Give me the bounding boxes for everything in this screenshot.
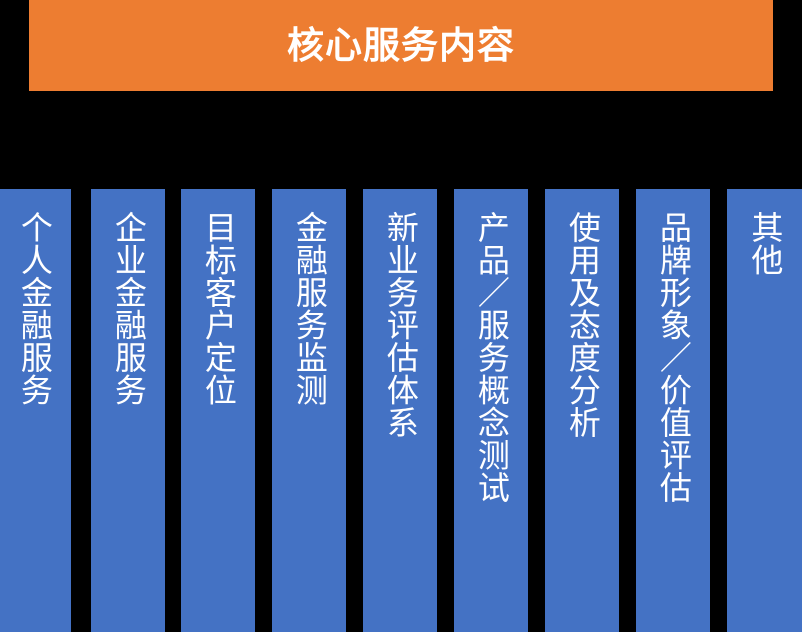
column-box-6[interactable]: 产品／服务概念测试 [454, 189, 528, 632]
column-label-7: 使用及态度分析 [564, 211, 600, 439]
column-box-5[interactable]: 新业务评估体系 [363, 189, 437, 632]
column-label-wrap-1: 个人金融服务 [0, 211, 71, 626]
column-label-wrap-9: 其他 [727, 211, 802, 626]
column-label-8: 品牌形象／价值评估 [655, 211, 691, 504]
page-title: 核心服务内容 [287, 27, 515, 64]
column-label-9: 其他 [747, 211, 783, 276]
column-box-9[interactable]: 其他 [727, 189, 802, 632]
column-label-wrap-7: 使用及态度分析 [545, 211, 619, 626]
column-label-wrap-2: 企业金融服务 [91, 211, 165, 626]
column-label-5: 新业务评估体系 [382, 211, 418, 439]
column-label-wrap-6: 产品／服务概念测试 [454, 211, 528, 626]
column-label-4: 金融服务监测 [291, 211, 327, 406]
column-label-wrap-3: 目标客户定位 [181, 211, 255, 626]
connector-band [0, 91, 802, 189]
column-label-3: 目标客户定位 [200, 211, 236, 406]
column-label-2: 企业金融服务 [110, 211, 146, 406]
column-box-8[interactable]: 品牌形象／价值评估 [636, 189, 710, 632]
column-box-2[interactable]: 企业金融服务 [91, 189, 165, 632]
columns-row: 个人金融服务 企业金融服务 目标客户定位 金融服务监测 新业务评估体系 [0, 189, 802, 632]
column-label-6: 产品／服务概念测试 [473, 211, 509, 504]
diagram-canvas: 核心服务内容 个人金融服务 企业金融服务 目标客户定位 金融服务监测 新 [0, 0, 802, 632]
column-box-1[interactable]: 个人金融服务 [0, 189, 71, 632]
column-box-3[interactable]: 目标客户定位 [181, 189, 255, 632]
column-box-4[interactable]: 金融服务监测 [272, 189, 346, 632]
header-banner: 核心服务内容 [29, 0, 773, 91]
column-label-wrap-4: 金融服务监测 [272, 211, 346, 626]
column-box-7[interactable]: 使用及态度分析 [545, 189, 619, 632]
column-label-1: 个人金融服务 [16, 211, 52, 406]
column-label-wrap-8: 品牌形象／价值评估 [636, 211, 710, 626]
column-label-wrap-5: 新业务评估体系 [363, 211, 437, 626]
